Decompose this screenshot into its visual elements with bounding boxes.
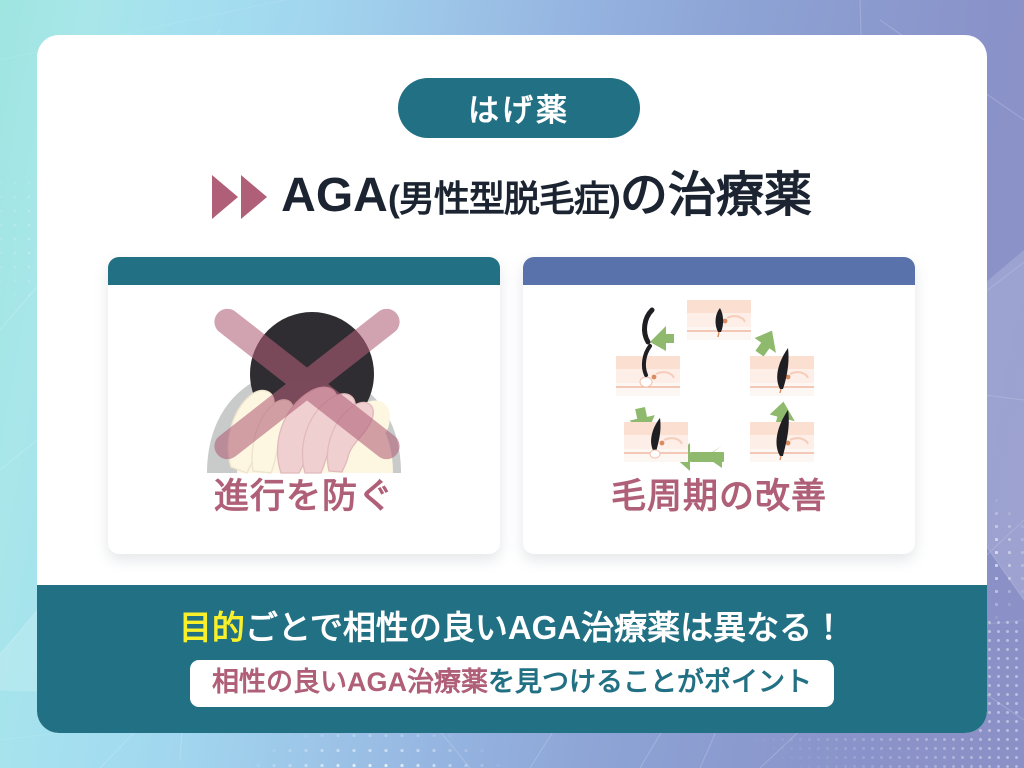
conclusion-point-box: 相性の良いAGA治療薬を見つけることがポイント: [190, 660, 834, 707]
conclusion-point-teal: を見つけることがポイント: [488, 667, 812, 697]
page-title-main-2: の治療薬: [620, 169, 812, 222]
background: はげ薬 AGA(男性型脱毛症)の治療薬: [0, 0, 1024, 768]
category-badge-label: はげ薬: [468, 85, 570, 130]
head-with-hands-crossed-out-illustration: [179, 291, 429, 483]
card-hair-cycle-improvement[interactable]: 毛周期の改善: [523, 257, 915, 554]
conclusion-banner-headline: 目的ごとで相性の良いAGA治療薬は異なる！: [179, 611, 845, 644]
conclusion-banner: 目的ごとで相性の良いAGA治療薬は異なる！ 相性の良いAGA治療薬を見つけること…: [37, 585, 987, 733]
conclusion-point-rose: 相性の良いAGA治療薬: [212, 667, 488, 697]
conclusion-point-text: 相性の良いAGA治療薬を見つけることがポイント: [212, 669, 812, 696]
card-header-bar-left: [108, 257, 500, 285]
card-body-left: 進行を防ぐ: [108, 285, 500, 554]
hair-growth-cycle-diagram: [604, 291, 834, 483]
page-title-text: AGA(男性型脱毛症)の治療薬: [281, 172, 812, 220]
page-title-main-1: AGA: [281, 169, 388, 222]
card-body-right: 毛周期の改善: [523, 285, 915, 554]
card-prevent-progression[interactable]: 進行を防ぐ: [108, 257, 500, 554]
conclusion-banner-highlight: 目的: [179, 609, 245, 646]
conclusion-banner-rest: ごとで相性の良いAGA治療薬は異なる！: [245, 609, 845, 646]
double-chevron-right-icon: [212, 175, 267, 219]
page-title: AGA(男性型脱毛症)の治療薬: [37, 158, 987, 234]
card-label-right: 毛周期の改善: [611, 479, 827, 514]
content-panel: はげ薬 AGA(男性型脱毛症)の治療薬: [37, 35, 987, 733]
card-header-bar-right: [523, 257, 915, 285]
category-badge: はげ薬: [398, 78, 640, 138]
card-label-left: 進行を防ぐ: [214, 479, 394, 514]
page-title-paren: (男性型脱毛症): [388, 178, 620, 219]
